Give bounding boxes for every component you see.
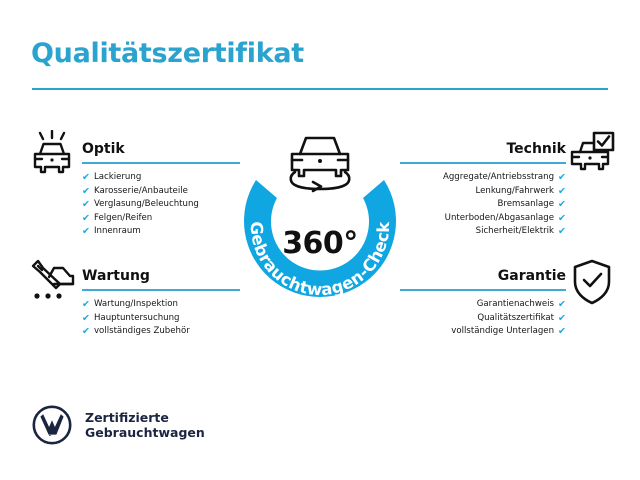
section-wartung: Wartung ✔Wartung/Inspektion ✔Hauptunters… [82,267,240,339]
check-icon: ✔ [82,214,90,224]
footer-branding: Zertifizierte Gebrauchtwagen [32,405,205,445]
list-item: Garantienachweis✔ [400,298,566,312]
section-list-garantie: Garantienachweis✔ Qualitätszertifikat✔ v… [400,298,566,339]
list-item: Unterboden/Abgasanlage✔ [400,212,566,226]
section-heading-garantie: Garantie [400,267,566,285]
section-optik: Optik ✔Lackierung ✔Karosserie/Anbauteile… [82,140,240,239]
list-item-label: vollständige Unterlagen [451,325,554,339]
section-heading-wartung: Wartung [82,267,240,285]
section-divider-wartung [82,289,240,291]
list-item: ✔Karosserie/Anbauteile [82,185,240,199]
section-divider-optik [82,162,240,164]
vw-logo [32,405,72,445]
check-icon: ✔ [558,327,566,337]
list-item-label: Felgen/Reifen [94,212,152,226]
shield-check-icon [570,258,614,306]
list-item-label: Qualitätszertifikat [477,312,554,326]
list-item: ✔Verglasung/Beleuchtung [82,198,240,212]
list-item: ✔Lackierung [82,171,240,185]
check-icon: ✔ [558,227,566,237]
section-heading-technik: Technik [400,140,566,158]
list-item-label: Garantienachweis [477,298,554,312]
list-item: Lenkung/Fahrwerk✔ [400,185,566,199]
list-item-label: Sicherheit/Elektrik [476,225,554,239]
list-item: Bremsanlage✔ [400,198,566,212]
section-divider-technik [400,162,566,164]
section-list-wartung: ✔Wartung/Inspektion ✔Hauptuntersuchung ✔… [82,298,240,339]
check-icon: ✔ [82,227,90,237]
section-list-optik: ✔Lackierung ✔Karosserie/Anbauteile ✔Verg… [82,171,240,239]
car-checkbox-icon [566,130,616,176]
list-item: ✔Wartung/Inspektion [82,298,240,312]
footer-text: Zertifizierte Gebrauchtwagen [85,410,205,440]
car-shine-icon [27,130,77,176]
list-item-label: Hauptuntersuchung [94,312,180,326]
page-title: Qualitätszertifikat [31,38,304,69]
check-icon: ✔ [558,314,566,324]
check-icon: ✔ [82,200,90,210]
section-heading-optik: Optik [82,140,240,158]
check-icon: ✔ [558,187,566,197]
section-list-technik: Aggregate/Antriebsstrang✔ Lenkung/Fahrwe… [400,171,566,239]
check-icon: ✔ [82,314,90,324]
check-icon: ✔ [558,300,566,310]
list-item-label: Karosserie/Anbauteile [94,185,188,199]
badge-center-label: 360° [223,226,417,261]
list-item: ✔Hauptuntersuchung [82,312,240,326]
check-icon: ✔ [82,300,90,310]
list-item-label: Lenkung/Fahrwerk [475,185,554,199]
list-item: Qualitätszertifikat✔ [400,312,566,326]
check-icon: ✔ [82,327,90,337]
title-divider [32,88,608,90]
footer-line-2: Gebrauchtwagen [85,425,205,440]
wrench-car-icon [27,257,77,303]
list-item-label: Lackierung [94,171,141,185]
footer-line-1: Zertifizierte [85,410,205,425]
section-technik: Technik Aggregate/Antriebsstrang✔ Lenkun… [400,140,566,239]
list-item-label: Bremsanlage [498,198,555,212]
check-icon: ✔ [558,214,566,224]
check-icon: ✔ [558,200,566,210]
badge-360-gebrauchtwagen-check: Gebrauchtwagen-Check 360° [223,122,417,318]
list-item: ✔vollständiges Zubehör [82,325,240,339]
list-item-label: Innenraum [94,225,141,239]
list-item: Sicherheit/Elektrik✔ [400,225,566,239]
check-icon: ✔ [82,173,90,183]
list-item-label: vollständiges Zubehör [94,325,190,339]
list-item-label: Aggregate/Antriebsstrang [443,171,554,185]
list-item-label: Unterboden/Abgasanlage [445,212,554,226]
list-item: vollständige Unterlagen✔ [400,325,566,339]
list-item: Aggregate/Antriebsstrang✔ [400,171,566,185]
list-item-label: Verglasung/Beleuchtung [94,198,199,212]
check-icon: ✔ [82,187,90,197]
section-garantie: Garantie Garantienachweis✔ Qualitätszert… [400,267,566,339]
list-item-label: Wartung/Inspektion [94,298,178,312]
list-item: ✔Felgen/Reifen [82,212,240,226]
section-divider-garantie [400,289,566,291]
check-icon: ✔ [558,173,566,183]
list-item: ✔Innenraum [82,225,240,239]
